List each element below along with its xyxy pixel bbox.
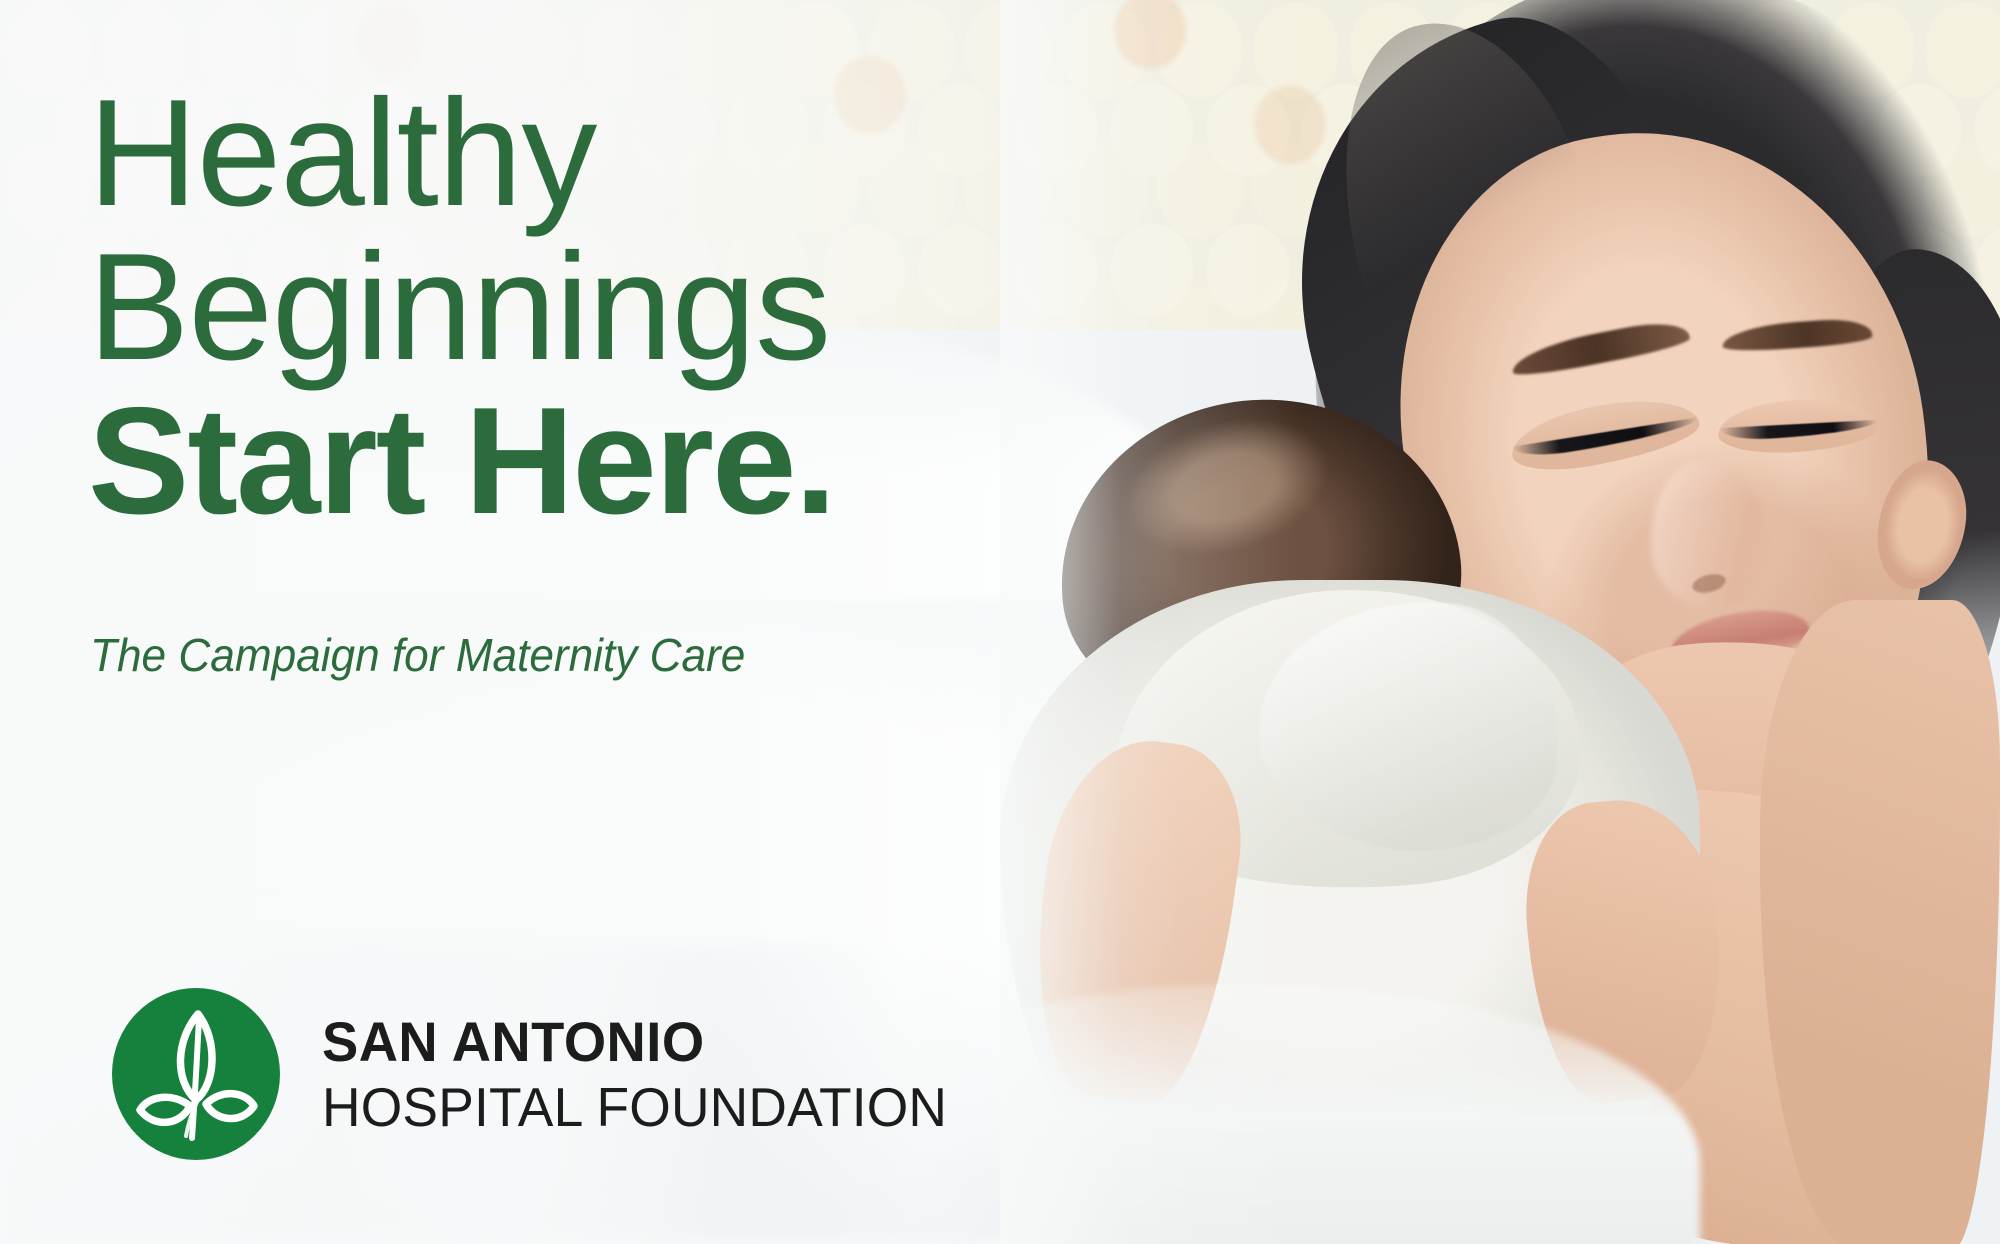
leaf-sprout-icon — [112, 988, 280, 1160]
foundation-logo[interactable]: SAN ANTONIO HOSPITAL FOUNDATION — [112, 988, 967, 1160]
campaign-tagline: The Campaign for Maternity Care — [90, 628, 745, 682]
logo-wordmark: SAN ANTONIO HOSPITAL FOUNDATION — [322, 1014, 967, 1135]
headline-line-2: Beginnings — [88, 230, 835, 384]
page-title: Healthy Beginnings Start Here. — [88, 76, 835, 538]
logo-org-name: SAN ANTONIO — [322, 1014, 947, 1070]
headline-line-3: Start Here. — [88, 384, 835, 538]
campaign-banner: Healthy Beginnings Start Here. The Campa… — [0, 0, 2000, 1244]
banner-content: Healthy Beginnings Start Here. The Campa… — [0, 0, 1000, 1244]
headline-line-1: Healthy — [88, 76, 835, 230]
logo-org-subtitle: HOSPITAL FOUNDATION — [322, 1080, 947, 1135]
